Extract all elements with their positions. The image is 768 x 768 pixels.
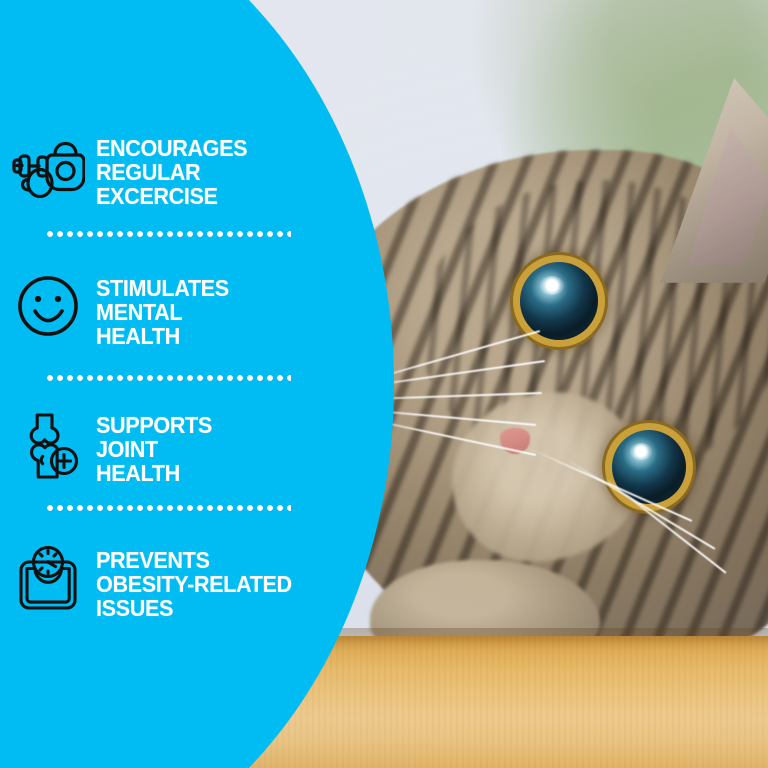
feature-label: STIMULATES MENTAL HEALTH [96, 268, 229, 348]
divider-2 [45, 375, 291, 381]
bone-joint-medical-icon [0, 405, 96, 481]
feature-item-exercise[interactable]: ENCOURAGES REGULAR EXCERCISE [0, 128, 330, 208]
feature-item-mental-health[interactable]: STIMULATES MENTAL HEALTH [0, 268, 330, 348]
feature-item-joint-health[interactable]: SUPPORTS JOINT HEALTH [0, 405, 330, 485]
feature-label: ENCOURAGES REGULAR EXCERCISE [96, 128, 247, 208]
kettlebell-dumbbell-icon [0, 128, 96, 198]
feature-label: PREVENTS OBESITY-RELATED ISSUES [96, 540, 292, 620]
divider-3 [45, 505, 291, 511]
divider-1 [45, 231, 291, 237]
poster-canvas: ENCOURAGES REGULAR EXCERCISE STIMULATES … [0, 0, 768, 768]
weight-scale-icon [0, 540, 96, 614]
smiley-face-icon [0, 268, 96, 338]
feature-list: ENCOURAGES REGULAR EXCERCISE STIMULATES … [0, 0, 340, 768]
feature-label: SUPPORTS JOINT HEALTH [96, 405, 212, 485]
feature-item-obesity[interactable]: PREVENTS OBESITY-RELATED ISSUES [0, 540, 330, 620]
